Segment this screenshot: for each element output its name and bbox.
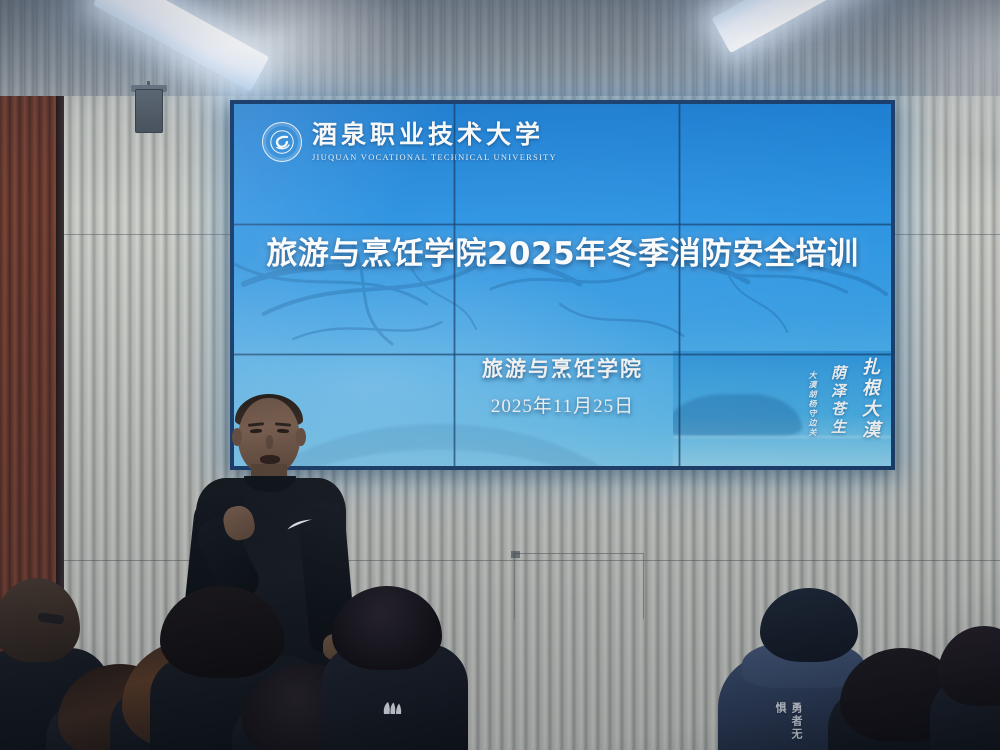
calligraphy-block: 扎根大漠 荫泽苍生 大漠胡杨守边关 xyxy=(807,355,883,461)
nike-swoosh-icon xyxy=(286,518,314,530)
presenter-ear-left xyxy=(232,428,242,446)
panel-seam-vertical-2 xyxy=(678,104,681,466)
wall-access-hatch xyxy=(514,553,644,619)
inset-tree-cluster xyxy=(673,394,802,436)
university-name-block: 酒泉职业技术大学 JIUQUAN VOCATIONAL TECHNICAL UN… xyxy=(312,123,557,162)
calligraphy-main-line: 扎根大漠 xyxy=(857,355,883,441)
presenter-ear-right xyxy=(296,428,306,446)
university-name-cn: 酒泉职业技术大学 xyxy=(312,123,557,148)
wall-access-hatch-tab xyxy=(511,551,520,558)
north-face-glyph xyxy=(379,701,407,716)
hoodie-back-text: 勇者无惧 xyxy=(772,702,804,750)
wall-speaker xyxy=(135,89,163,133)
calligraphy-small-line: 大漠胡杨守边关 xyxy=(807,355,818,438)
university-crest-icon xyxy=(262,122,302,162)
crest-swirl-icon xyxy=(269,129,295,155)
calligraphy-photo-inset: 扎根大漠 荫泽苍生 大漠胡杨守边关 xyxy=(673,351,891,466)
presenter-eye-right xyxy=(277,429,289,434)
slide-title: 旅游与烹饪学院2025年冬季消防安全培训 xyxy=(234,228,891,273)
calligraphy-middle-line: 荫泽苍生 xyxy=(827,355,848,437)
photo-scene: 酒泉职业技术大学 JIUQUAN VOCATIONAL TECHNICAL UN… xyxy=(0,0,1000,750)
presenter-mouth xyxy=(260,455,280,464)
university-logo-lockup: 酒泉职业技术大学 JIUQUAN VOCATIONAL TECHNICAL UN… xyxy=(262,122,557,162)
university-name-en: JIUQUAN VOCATIONAL TECHNICAL UNIVERSITY xyxy=(312,153,557,162)
wall-joint-lower xyxy=(0,560,1000,561)
panel-seam-horizontal-2 xyxy=(234,353,891,356)
swoosh-glyph xyxy=(286,519,314,531)
panel-seam-vertical-1 xyxy=(453,104,456,466)
presenter-nose xyxy=(266,435,273,449)
panel-seam-horizontal-1 xyxy=(234,223,891,226)
north-face-logo-icon xyxy=(378,700,408,716)
